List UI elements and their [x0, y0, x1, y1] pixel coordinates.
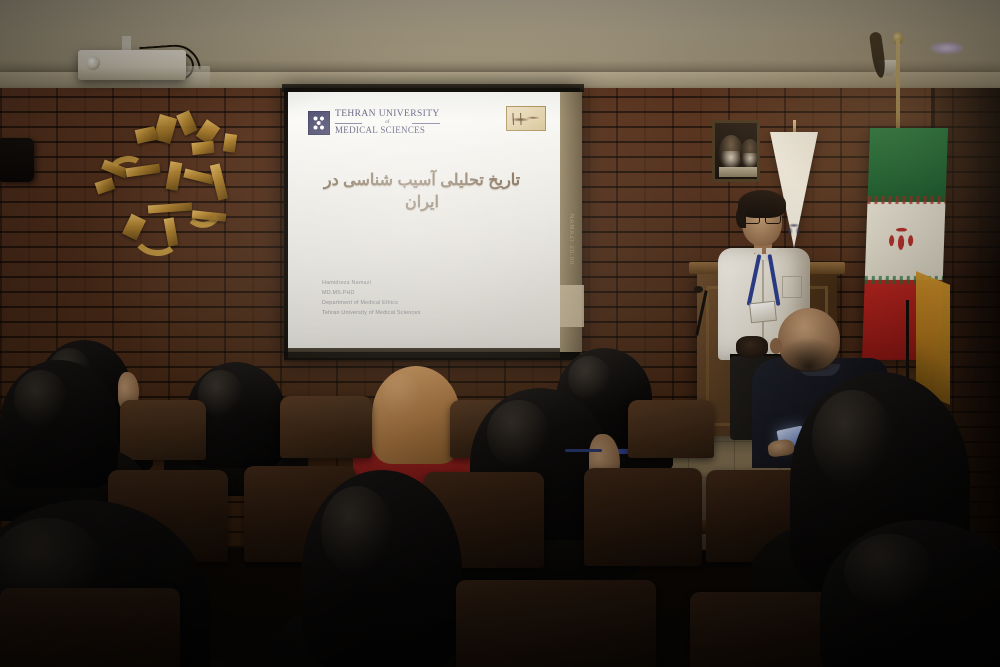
projector-lens-icon: [86, 56, 100, 70]
bismillah-calligraphy-icon: [506, 106, 546, 131]
attendee-tan-hijab-red-top: [372, 366, 460, 464]
iran-flag-emblem-icon: [884, 224, 919, 256]
auditorium-seat[interactable]: [456, 580, 656, 667]
slide-title: تاریخ تحلیلی آسیب شناسی در ایران: [306, 170, 538, 213]
portrait-beard-right: [742, 153, 758, 168]
projection-screen: TEHRAN UNIVERSITY of MEDICAL SCIENCES تا…: [288, 92, 560, 352]
photo-scene: NAMAZI 20.00 TEHRAN UNIVERSITY of MEDICA…: [0, 0, 1000, 667]
attendee-foreground-right: [820, 520, 1000, 667]
slide-byline: Hamidreza Namazi MD.MS.PHD Department of…: [322, 278, 420, 318]
presenter-shirt-pocket: [782, 276, 802, 298]
attendee-tan-headscarf: [372, 366, 460, 464]
byline-author: Hamidreza Namazi: [322, 278, 420, 288]
slide-logo-text: TEHRAN UNIVERSITY of MEDICAL SCIENCES: [335, 110, 440, 135]
screen-side-panel: [560, 285, 584, 327]
seated-man-ear: [770, 338, 782, 354]
byline-degrees: MD.MS.PHD: [322, 288, 420, 298]
auditorium-seat[interactable]: [0, 588, 180, 667]
attendee-headscarf: [0, 360, 118, 488]
byline-institution: Tehran University of Medical Sciences: [322, 308, 420, 318]
auditorium-seat[interactable]: [628, 400, 714, 458]
iran-flag-kufic-top: [867, 196, 945, 204]
auditorium-seat[interactable]: [120, 400, 206, 460]
attendee-front-center: [302, 470, 462, 667]
logo-line-2: of: [335, 120, 440, 126]
screen-shadow: [284, 352, 580, 362]
portrait-plate: [719, 167, 759, 177]
attendee-headscarf: [302, 470, 462, 667]
wall-speaker: [0, 138, 34, 182]
seated-man-hair-fringe: [774, 338, 844, 372]
attendee-headscarf: [820, 520, 1000, 667]
eyeglasses-temple-icon: [565, 449, 601, 452]
byline-department: Department of Medical Ethics: [322, 298, 420, 308]
persian-calligraphy-sculpture: [96, 112, 286, 262]
shield-logo-icon: [308, 111, 330, 135]
auditorium-seat[interactable]: [690, 592, 840, 667]
slide-university-logo: TEHRAN UNIVERSITY of MEDICAL SCIENCES: [308, 110, 440, 135]
iran-flag-green-band: [867, 128, 948, 202]
screen-side-label: NAMAZI 20.00: [559, 200, 583, 280]
eyeglasses-icon: [744, 214, 781, 222]
attendee-left-front: [0, 360, 118, 488]
auditorium-seat[interactable]: [584, 468, 702, 566]
flag-pole-iran: [896, 40, 900, 140]
auditorium-seat[interactable]: [280, 396, 372, 458]
logo-line-3: MEDICAL SCIENCES: [335, 126, 440, 135]
framed-leaders-portrait: [712, 120, 760, 182]
recessed-ceiling-light: [930, 42, 964, 54]
